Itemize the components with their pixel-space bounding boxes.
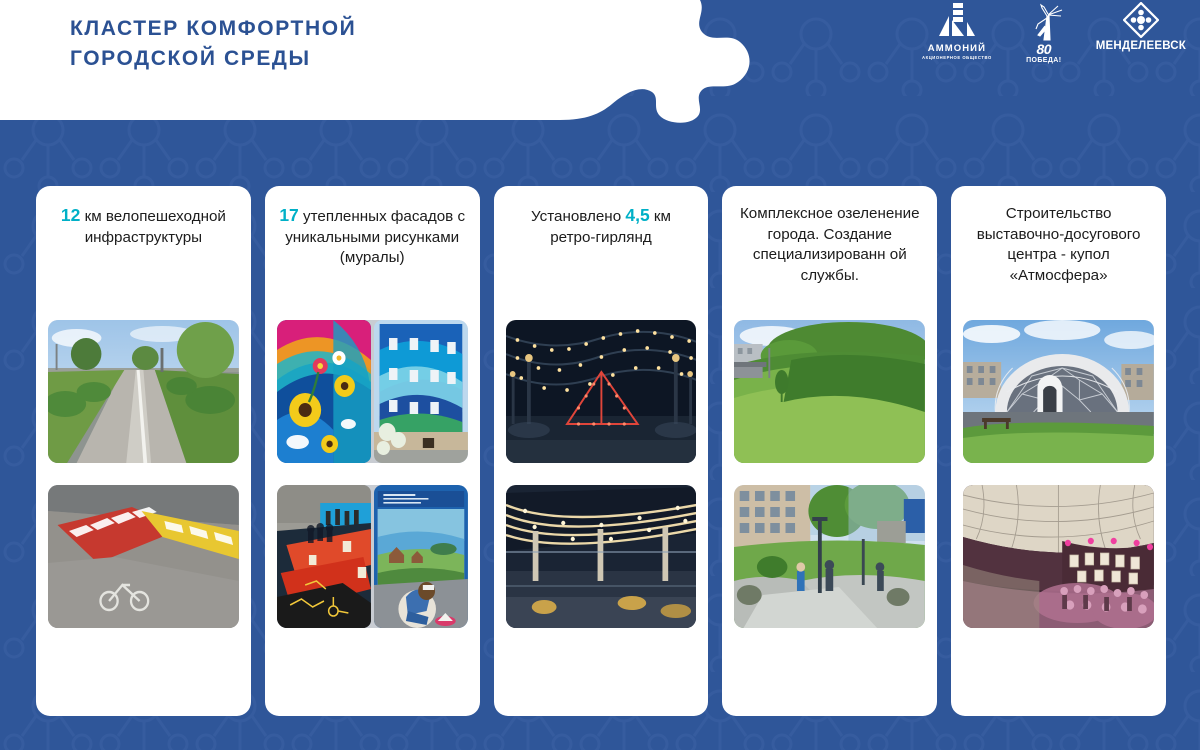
mendeleevsk-diamond-icon [1123,2,1159,38]
logo-ammony-subtitle: АКЦИОНЕРНОЕ ОБЩЕСТВО [922,55,992,60]
photo-blue-wave-mural [374,320,468,463]
ammony-mark-icon [935,2,979,42]
card-caption-text: утепленных фасадов с уникальными рисунка… [285,208,465,266]
card-caption: 12 км велопешеходной инфраструктуры [48,204,239,316]
header-panel: КЛАСТЕР КОМФОРТНОЙ ГОРОДСКОЙ СРЕДЫ [0,0,760,118]
photo-floral-mural [277,320,371,463]
logo-mendeleevsk: МЕНДЕЛЕЕВСК [1096,2,1186,52]
logo-pobeda-80: 80 ПОБЕДА! [1018,2,1070,64]
photo-crosswalk [48,485,239,628]
photo-garland-night-square [506,320,697,463]
card-city-landscaping[interactable]: Комплексное озеленение города. Создание … [722,186,937,716]
photo-landscape-mural [374,485,468,628]
photo-chemistry-mural [277,485,371,628]
photo-murals-bottom [277,485,468,628]
card-stat-number: 4,5 [625,205,649,225]
card-photos [277,316,468,704]
card-bike-infrastructure[interactable]: 12 км велопешеходной инфраструктуры [36,186,251,716]
logo-ammony: АММОНИЙ АКЦИОНЕРНОЕ ОБЩЕСТВО [922,2,992,60]
logo-pobeda-name: ПОБЕДА! [1026,57,1061,64]
card-retro-garlands[interactable]: Установлено 4,5 км ретро-гирлянд [494,186,709,716]
page-title-line-1: КЛАСТЕР КОМФОРТНОЙ [70,14,630,44]
card-caption-prefix: Установлено [531,208,625,225]
cards-row: 12 км велопешеходной инфраструктуры [36,186,1166,716]
card-stat-number: 12 [61,205,80,225]
photo-murals-top [277,320,468,463]
logo-pobeda-number: 80 [1036,42,1051,56]
slide-canvas: КЛАСТЕР КОМФОРТНОЙ ГОРОДСКОЙ СРЕДЫ АММОН… [0,0,1200,750]
card-caption-text: км велопешеходной инфраструктуры [80,208,226,246]
logo-strip: АММОНИЙ АКЦИОНЕРНОЕ ОБЩЕСТВО 80 ПОБЕДА! [922,2,1186,66]
photo-green-lawn [734,320,925,463]
card-caption: Установлено 4,5 км ретро-гирлянд [506,204,697,316]
card-caption-text: Строительство выставочно-досугового цент… [977,205,1141,284]
card-caption-text: Комплексное озеленение города. Создание … [740,205,920,284]
card-caption: Строительство выставочно-досугового цент… [963,204,1154,316]
card-insulated-facades[interactable]: 17 утепленных фасадов с уникальными рису… [265,186,480,716]
photo-park-alley [734,485,925,628]
card-photos [506,316,697,704]
photo-garland-pergola [506,485,697,628]
card-stat-number: 17 [279,205,298,225]
photo-bike-path [48,320,239,463]
card-photos [963,316,1154,704]
motherland-monument-icon [1018,2,1070,42]
logo-mendeleevsk-name: МЕНДЕЛЕЕВСК [1096,40,1186,52]
page-title-line-2: ГОРОДСКОЙ СРЕДЫ [70,44,630,74]
logo-ammony-name: АММОНИЙ [928,43,986,54]
card-caption: 17 утепленных фасадов с уникальными рису… [277,204,468,316]
page-title: КЛАСТЕР КОМФОРТНОЙ ГОРОДСКОЙ СРЕДЫ [70,14,630,74]
card-atmosfera-dome[interactable]: Строительство выставочно-досугового цент… [951,186,1166,716]
photo-dome-exterior [963,320,1154,463]
card-caption: Комплексное озеленение города. Создание … [734,204,925,316]
card-photos [48,316,239,704]
photo-dome-interior [963,485,1154,628]
card-photos [734,316,925,704]
